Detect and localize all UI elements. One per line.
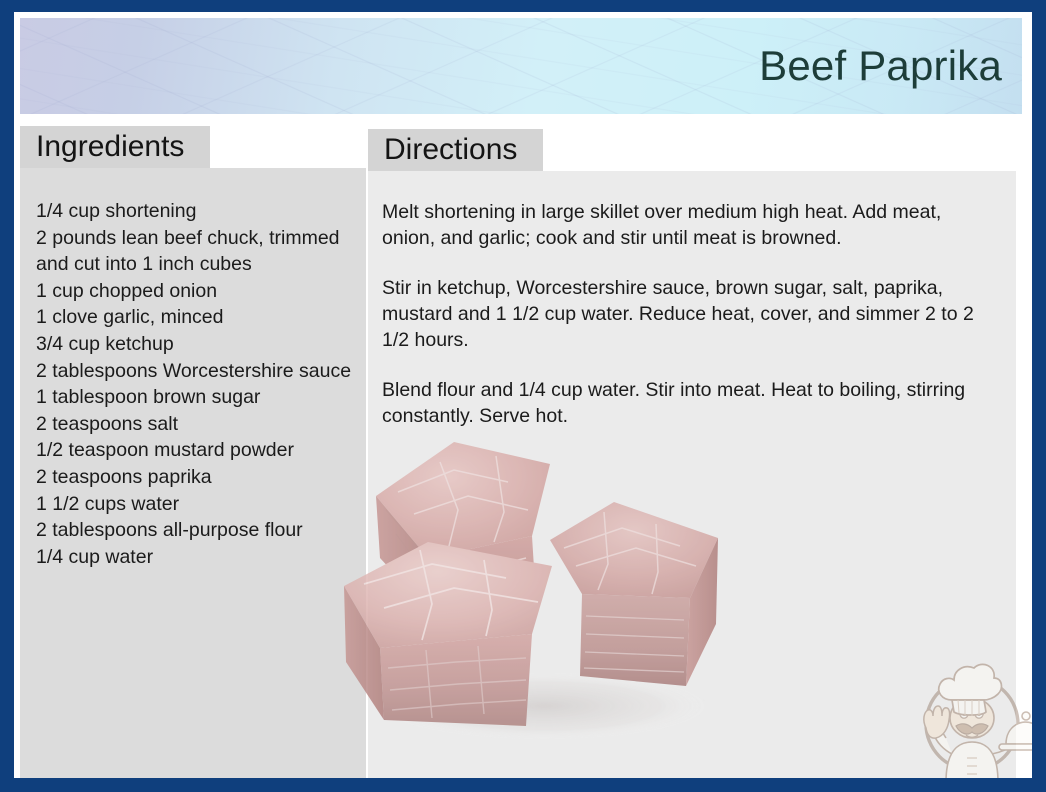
tab-ingredients-label: Ingredients <box>36 130 184 164</box>
ingredient-item: 1/4 cup water <box>36 544 354 571</box>
tab-ingredients[interactable]: Ingredients <box>20 126 210 168</box>
ingredients-panel: 1/4 cup shortening2 pounds lean beef chu… <box>20 168 366 778</box>
title-banner: Beef Paprika <box>20 18 1022 114</box>
ingredient-item: 2 teaspoons paprika <box>36 464 354 491</box>
ingredient-item: 1/2 teaspoon mustard powder <box>36 437 354 464</box>
directions-steps: Melt shortening in large skillet over me… <box>382 199 990 429</box>
direction-step: Melt shortening in large skillet over me… <box>382 199 990 251</box>
direction-step: Stir in ketchup, Worcestershire sauce, b… <box>382 275 990 353</box>
ingredient-item: 2 tablespoons all-purpose flour <box>36 517 354 544</box>
recipe-title: Beef Paprika <box>759 42 1002 90</box>
ingredient-item: 3/4 cup ketchup <box>36 331 354 358</box>
ingredient-item: 2 tablespoons Worcestershire sauce <box>36 358 354 385</box>
ingredient-item: 1/4 cup shortening <box>36 198 354 225</box>
chef-logo-watermark <box>906 650 1032 778</box>
ingredient-item: 2 teaspoons salt <box>36 411 354 438</box>
ingredient-item: 1 cup chopped onion <box>36 278 354 305</box>
ingredient-item: 1 clove garlic, minced <box>36 304 354 331</box>
tab-directions[interactable]: Directions <box>368 129 543 171</box>
tab-directions-label: Directions <box>384 133 517 167</box>
ingredient-item: 2 pounds lean beef chuck, trimmed and cu… <box>36 225 354 278</box>
page-surface: Beef Paprika Ingredients Directions 1/4 … <box>14 12 1032 778</box>
ingredients-list: 1/4 cup shortening2 pounds lean beef chu… <box>36 198 354 570</box>
beef-cubes-photo <box>336 418 756 758</box>
ingredient-item: 1 tablespoon brown sugar <box>36 384 354 411</box>
recipe-card: Beef Paprika Ingredients Directions 1/4 … <box>0 0 1046 792</box>
ingredient-item: 1 1/2 cups water <box>36 491 354 518</box>
